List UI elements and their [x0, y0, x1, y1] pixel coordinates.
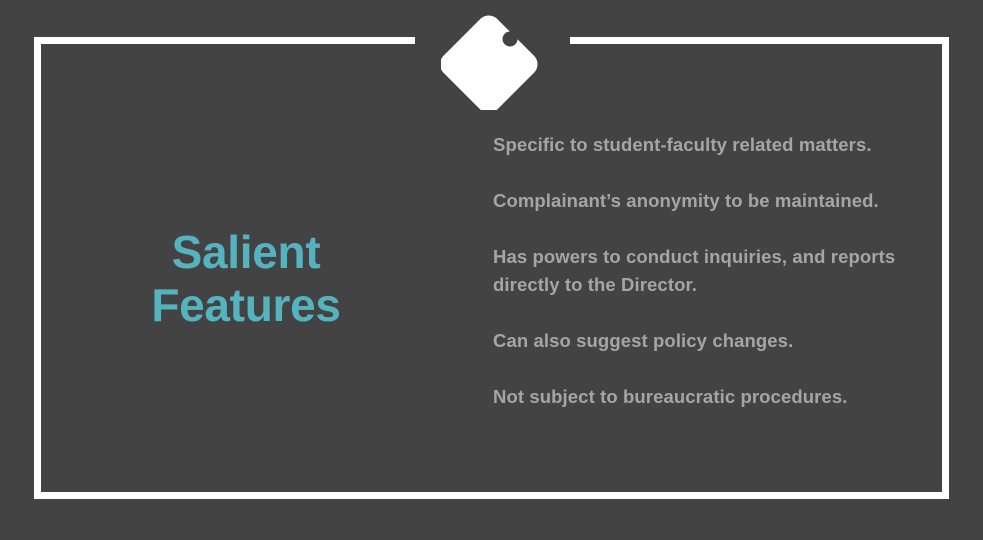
- list-item: Specific to student-faculty related matt…: [493, 131, 923, 159]
- slide-canvas: Salient Features Specific to student-fac…: [0, 0, 983, 540]
- list-item: Not subject to bureaucratic procedures.: [493, 383, 923, 411]
- page-title-line-2: Features: [60, 279, 432, 332]
- frame-border-top-right: [570, 37, 949, 44]
- page-title: Salient Features: [60, 226, 432, 332]
- features-list: Specific to student-faculty related matt…: [493, 131, 923, 411]
- frame-border-bottom: [34, 492, 949, 499]
- list-item: Complainant’s anonymity to be maintained…: [493, 187, 923, 215]
- frame-border-top-left: [34, 37, 415, 44]
- list-item: Can also suggest policy changes.: [493, 327, 923, 355]
- frame-border-left: [34, 37, 41, 499]
- page-title-line-1: Salient: [60, 226, 432, 279]
- tag-icon: [441, 10, 545, 110]
- frame-border-right: [942, 37, 949, 499]
- list-item: Has powers to conduct inquiries, and rep…: [493, 243, 923, 299]
